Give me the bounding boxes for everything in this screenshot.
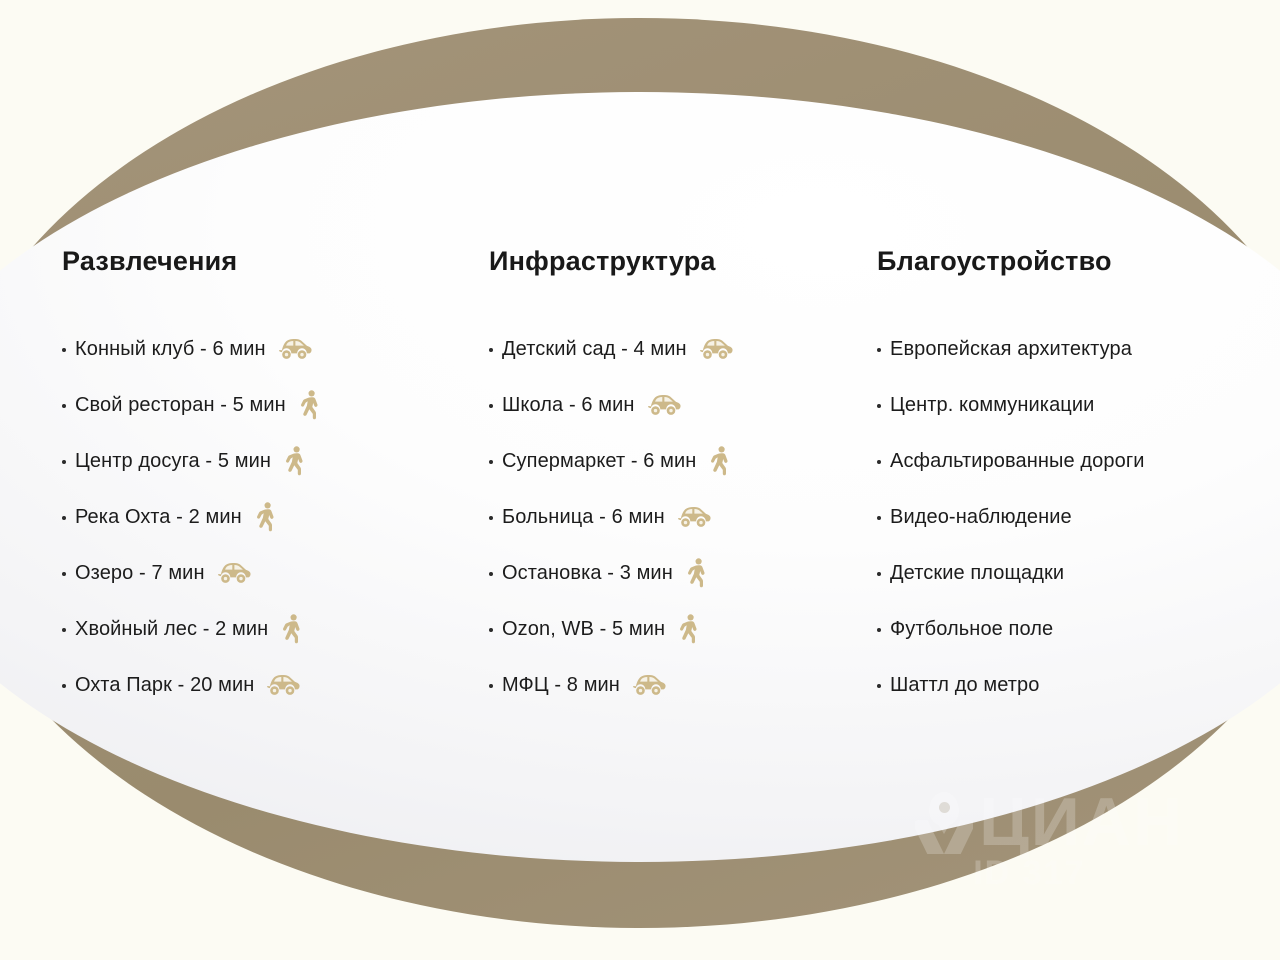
- list-item: Супермаркет - 6 мин: [489, 433, 869, 489]
- bullet-icon: [62, 348, 66, 352]
- pedestrian-icon: [687, 558, 707, 588]
- list-item: Больница - 6 мин: [489, 489, 869, 545]
- bullet-icon: [877, 628, 881, 632]
- list-item-label: Асфальтированные дороги: [890, 451, 1145, 471]
- pedestrian-icon: [300, 390, 320, 420]
- list-item-label: Озеро - 7 мин: [75, 563, 205, 583]
- list-item-label: Остановка - 3 мин: [502, 563, 673, 583]
- bullet-icon: [489, 516, 493, 520]
- feature-list: Европейская архитектураЦентр. коммуникац…: [877, 321, 1257, 713]
- car-icon: [266, 671, 300, 699]
- bullet-icon: [489, 628, 493, 632]
- bullet-icon: [62, 404, 66, 408]
- content-columns: Развлечения Конный клуб - 6 минСвой рест…: [0, 0, 1280, 960]
- list-item: Футбольное поле: [877, 601, 1257, 657]
- list-item-label: Охта Парк - 20 мин: [75, 675, 254, 695]
- bullet-icon: [489, 572, 493, 576]
- list-item-label: Супермаркет - 6 мин: [502, 451, 696, 471]
- list-item: Центр досуга - 5 мин: [62, 433, 462, 489]
- column-entertainment: Развлечения Конный клуб - 6 минСвой рест…: [62, 246, 462, 713]
- list-item: Хвойный лес - 2 мин: [62, 601, 462, 657]
- bullet-icon: [877, 572, 881, 576]
- feature-list: Конный клуб - 6 минСвой ресторан - 5 мин…: [62, 321, 462, 713]
- list-item: Ozon, WB - 5 мин: [489, 601, 869, 657]
- car-icon: [632, 671, 666, 699]
- car-icon: [677, 503, 711, 531]
- list-item: Остановка - 3 мин: [489, 545, 869, 601]
- bullet-icon: [62, 460, 66, 464]
- pedestrian-icon: [285, 446, 305, 476]
- pedestrian-icon: [710, 446, 730, 476]
- car-icon: [647, 391, 681, 419]
- list-item: Школа - 6 мин: [489, 377, 869, 433]
- bullet-icon: [62, 516, 66, 520]
- list-item: Свой ресторан - 5 мин: [62, 377, 462, 433]
- bullet-icon: [877, 404, 881, 408]
- list-item-label: Больница - 6 мин: [502, 507, 665, 527]
- bullet-icon: [877, 516, 881, 520]
- list-item: Река Охта - 2 мин: [62, 489, 462, 545]
- bullet-icon: [62, 628, 66, 632]
- list-item: Видео-наблюдение: [877, 489, 1257, 545]
- list-item-label: Свой ресторан - 5 мин: [75, 395, 286, 415]
- pedestrian-icon: [679, 614, 699, 644]
- list-item-label: Конный клуб - 6 мин: [75, 339, 266, 359]
- list-item: Конный клуб - 6 мин: [62, 321, 462, 377]
- list-item-label: МФЦ - 8 мин: [502, 675, 620, 695]
- list-item: Детские площадки: [877, 545, 1257, 601]
- list-item: Центр. коммуникации: [877, 377, 1257, 433]
- car-icon: [278, 335, 312, 363]
- list-item-label: Европейская архитектура: [890, 339, 1132, 359]
- car-icon: [217, 559, 251, 587]
- bullet-icon: [877, 460, 881, 464]
- bullet-icon: [489, 404, 493, 408]
- list-item-label: Ozon, WB - 5 мин: [502, 619, 665, 639]
- list-item: Европейская архитектура: [877, 321, 1257, 377]
- pedestrian-icon: [256, 502, 276, 532]
- pedestrian-icon: [282, 614, 302, 644]
- list-item-label: Шаттл до метро: [890, 675, 1040, 695]
- bullet-icon: [877, 684, 881, 688]
- list-item: Детский сад - 4 мин: [489, 321, 869, 377]
- column-title: Благоустройство: [877, 246, 1257, 277]
- bullet-icon: [489, 460, 493, 464]
- list-item-label: Футбольное поле: [890, 619, 1053, 639]
- list-item-label: Хвойный лес - 2 мин: [75, 619, 268, 639]
- column-infrastructure: Инфраструктура Детский сад - 4 минШкола …: [489, 246, 869, 713]
- bullet-icon: [877, 348, 881, 352]
- list-item-label: Река Охта - 2 мин: [75, 507, 242, 527]
- column-title: Инфраструктура: [489, 246, 869, 277]
- list-item-label: Центр. коммуникации: [890, 395, 1094, 415]
- list-item-label: Детские площадки: [890, 563, 1064, 583]
- column-title: Развлечения: [62, 246, 462, 277]
- list-item: Охта Парк - 20 мин: [62, 657, 462, 713]
- feature-list: Детский сад - 4 минШкола - 6 минСупермар…: [489, 321, 869, 713]
- bullet-icon: [489, 684, 493, 688]
- bullet-icon: [489, 348, 493, 352]
- bullet-icon: [62, 684, 66, 688]
- poster-canvas: Развлечения Конный клуб - 6 минСвой рест…: [0, 0, 1280, 960]
- list-item: Шаттл до метро: [877, 657, 1257, 713]
- list-item-label: Школа - 6 мин: [502, 395, 635, 415]
- list-item: МФЦ - 8 мин: [489, 657, 869, 713]
- bullet-icon: [62, 572, 66, 576]
- list-item: Озеро - 7 мин: [62, 545, 462, 601]
- list-item-label: Центр досуга - 5 мин: [75, 451, 271, 471]
- list-item-label: Видео-наблюдение: [890, 507, 1072, 527]
- column-amenities: Благоустройство Европейская архитектураЦ…: [877, 246, 1257, 713]
- list-item: Асфальтированные дороги: [877, 433, 1257, 489]
- list-item-label: Детский сад - 4 мин: [502, 339, 687, 359]
- car-icon: [699, 335, 733, 363]
